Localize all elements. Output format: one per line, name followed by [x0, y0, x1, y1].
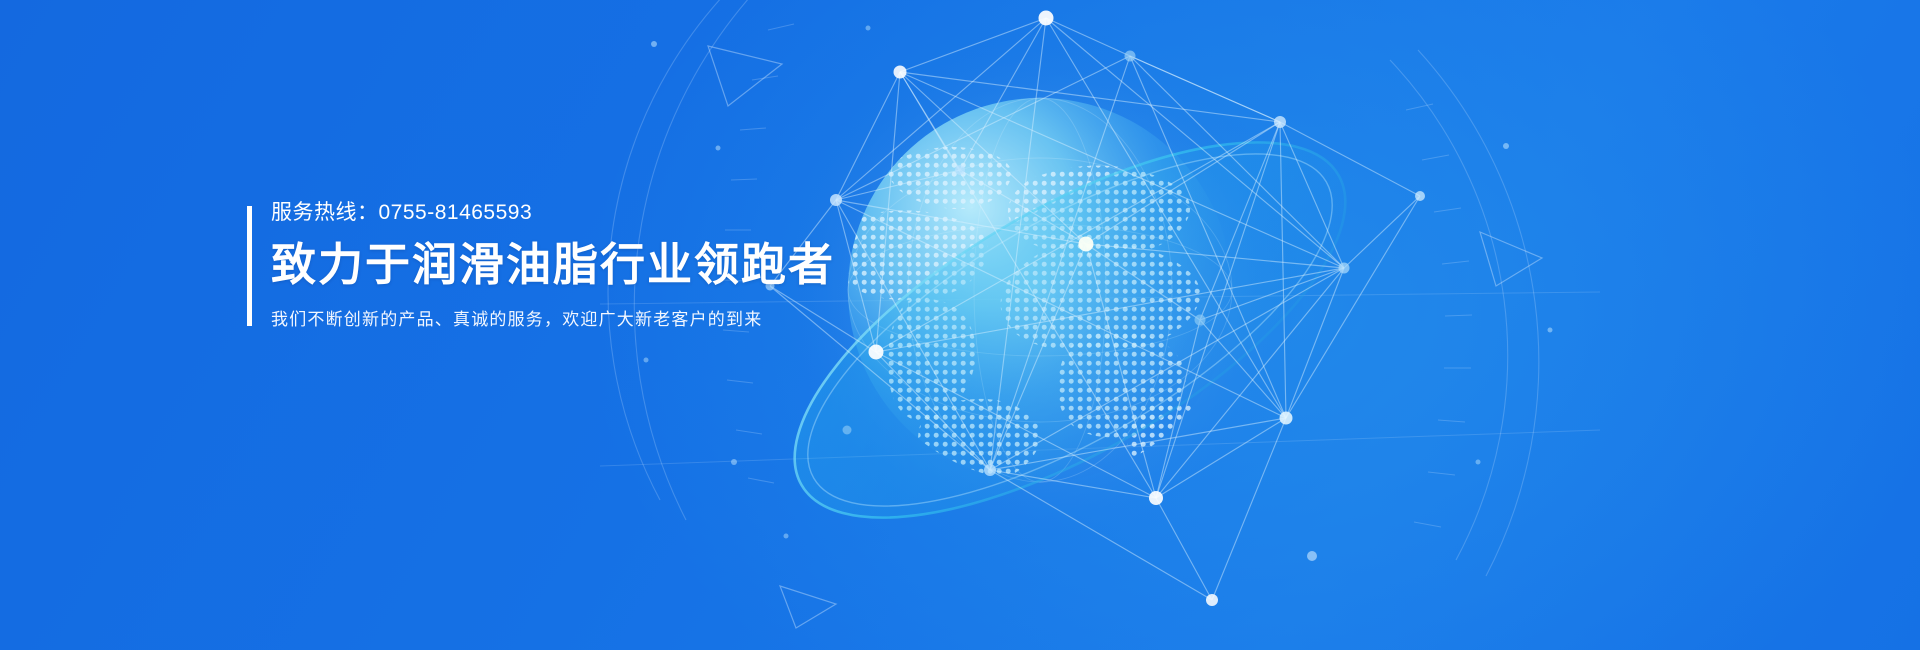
hero-banner: 服务热线：0755-81465593 致力于润滑油脂行业领跑者 我们不断创新的产…: [0, 0, 1920, 650]
page-title: 致力于润滑油脂行业领跑者: [271, 237, 835, 293]
service-hotline: 服务热线：0755-81465593: [271, 200, 835, 225]
page-subtitle: 我们不断创新的产品、真诚的服务，欢迎广大新老客户的到来: [271, 309, 835, 331]
radar-arc-right: [1390, 50, 1539, 576]
hero-text-block: 服务热线：0755-81465593 致力于润滑油脂行业领跑者 我们不断创新的产…: [247, 200, 835, 332]
accent-bar: [247, 206, 252, 326]
